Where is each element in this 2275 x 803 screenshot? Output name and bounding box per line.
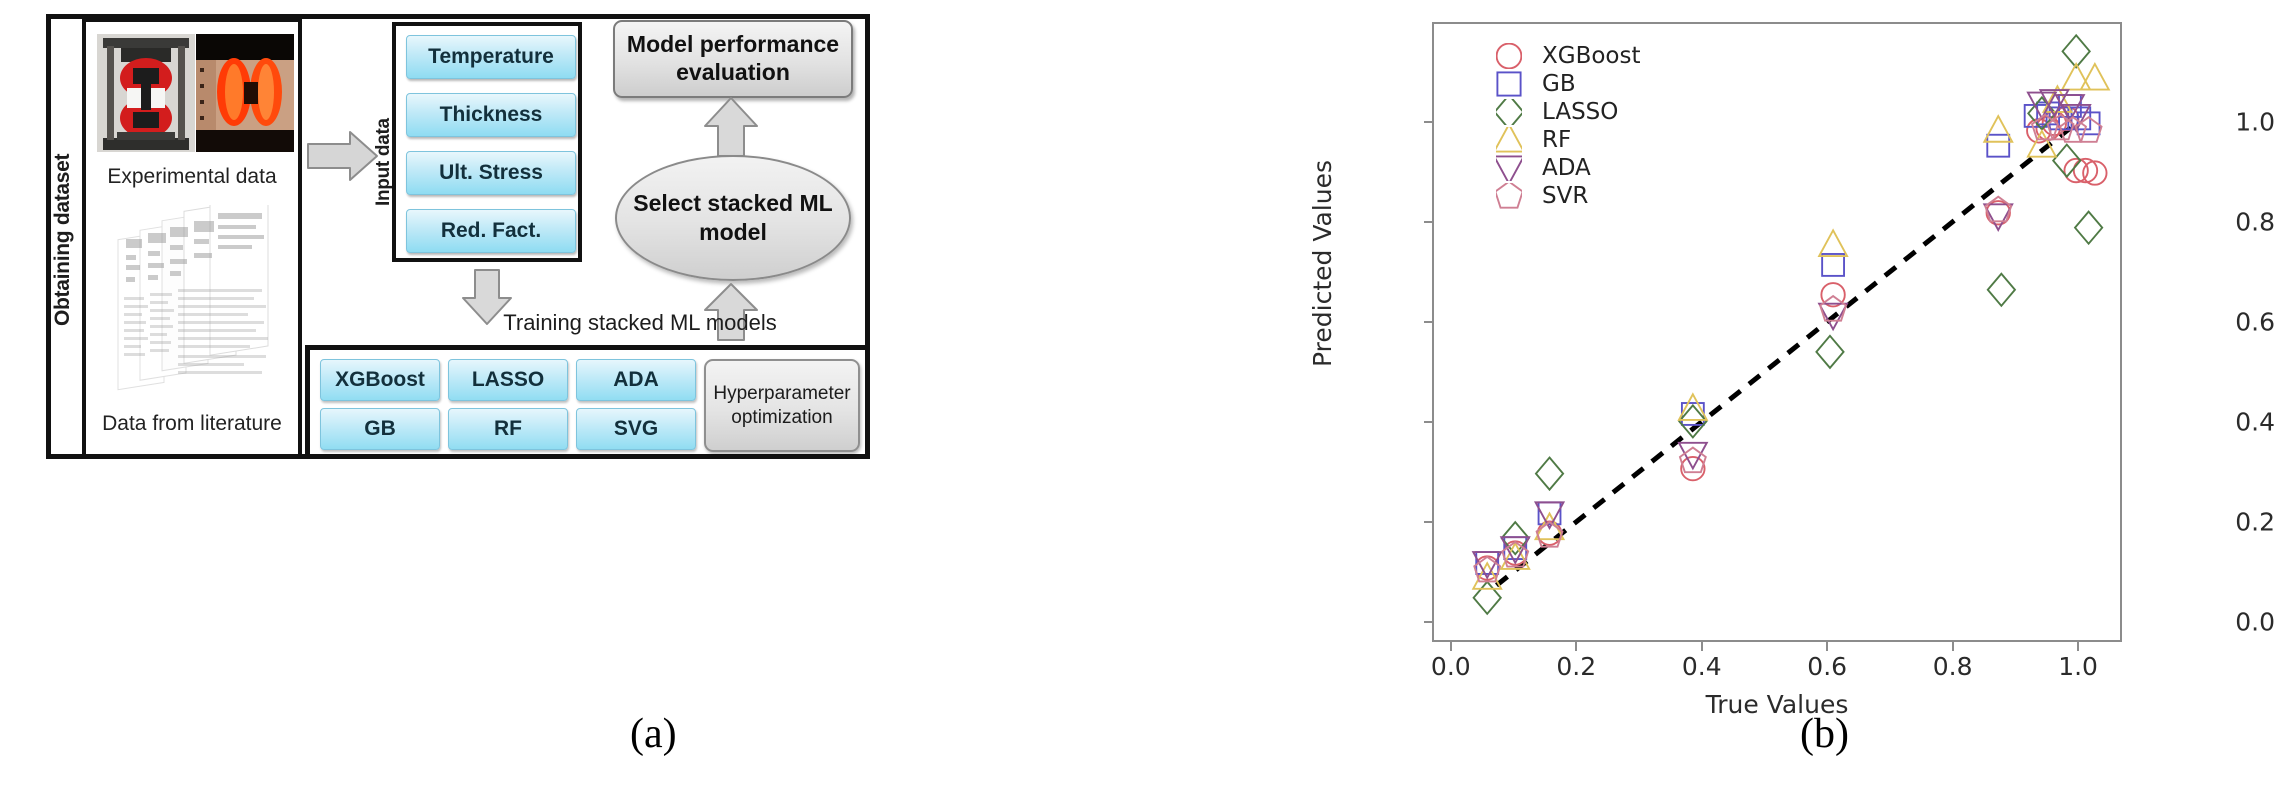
pentagon-marker-icon xyxy=(1492,183,1526,209)
ml-model-svg[interactable]: SVG xyxy=(576,408,696,450)
y-tick-mark xyxy=(1424,121,1433,123)
y-tick-label: 0.8 xyxy=(2157,208,2275,237)
x-tick-mark xyxy=(1952,642,1954,651)
x-tick-mark xyxy=(1826,642,1828,651)
square-marker-icon xyxy=(1492,71,1526,97)
legend-label: ADA xyxy=(1542,155,1591,181)
y-tick-label: 1.0 xyxy=(2157,108,2275,137)
chart-legend: XGBoostGBLASSORFADASVR xyxy=(1492,42,1641,210)
y-tick-label: 0.2 xyxy=(2157,508,2275,537)
legend-item-lasso: LASSO xyxy=(1492,98,1641,126)
legend-item-ada: ADA xyxy=(1492,154,1641,182)
diamond-marker-icon xyxy=(1492,99,1526,125)
legend-label: LASSO xyxy=(1542,99,1618,125)
x-tick-label: 1.0 xyxy=(2058,652,2098,681)
legend-label: SVR xyxy=(1542,183,1588,209)
legend-item-xgboost: XGBoost xyxy=(1492,42,1641,70)
x-tick-label: 0.4 xyxy=(1682,652,1722,681)
legend-item-rf: RF xyxy=(1492,126,1641,154)
training-stacked-ml-models-label: Training stacked ML models xyxy=(420,310,860,336)
feature-ult-stress[interactable]: Ult. Stress xyxy=(406,151,576,195)
arrow-select-to-evaluation-icon xyxy=(700,96,762,163)
triangle-up-marker-icon xyxy=(1492,127,1526,153)
y-tick-mark xyxy=(1424,421,1433,423)
subfigure-caption-a: (a) xyxy=(630,710,677,758)
y-tick-mark xyxy=(1424,221,1433,223)
y-tick-mark xyxy=(1424,321,1433,323)
obtaining-dataset-label: Obtaining dataset xyxy=(48,70,78,410)
x-tick-label: 0.6 xyxy=(1807,652,1847,681)
ml-model-lasso[interactable]: LASSO xyxy=(448,359,568,401)
flowchart-panel: Obtaining dataset xyxy=(0,0,1300,803)
feature-thickness[interactable]: Thickness xyxy=(406,93,576,137)
ml-model-rf[interactable]: RF xyxy=(448,408,568,450)
legend-label: XGBoost xyxy=(1542,43,1641,69)
feature-temperature[interactable]: Temperature xyxy=(406,35,576,79)
x-axis-label: True Values xyxy=(1432,690,2122,719)
experimental-data-caption: Experimental data xyxy=(87,165,297,189)
x-tick-label: 0.2 xyxy=(1556,652,1596,681)
x-tick-mark xyxy=(2077,642,2079,651)
model-performance-evaluation-box[interactable]: Model performance evaluation xyxy=(613,20,853,98)
legend-item-svr: SVR xyxy=(1492,182,1641,210)
input-features-box: Temperature Thickness Ult. Stress Red. F… xyxy=(392,22,582,262)
subfigure-caption-b: (b) xyxy=(1800,710,1849,758)
experimental-photo-tensile-rig xyxy=(97,34,195,152)
x-tick-mark xyxy=(1450,642,1452,651)
circle-marker-icon xyxy=(1492,43,1526,69)
literature-papers-illustration xyxy=(110,205,285,400)
y-tick-mark xyxy=(1424,521,1433,523)
y-axis-label: Predicted Values xyxy=(1308,160,1337,367)
legend-label: RF xyxy=(1542,127,1571,153)
y-tick-mark xyxy=(1424,621,1433,623)
legend-item-gb: GB xyxy=(1492,70,1641,98)
y-tick-label: 0.6 xyxy=(2157,308,2275,337)
ml-model-ada[interactable]: ADA xyxy=(576,359,696,401)
feature-red-fact[interactable]: Red. Fact. xyxy=(406,209,576,253)
scatter-plot-panel: Predicted Values True Values XGBoostGBLA… xyxy=(1300,0,2275,803)
select-stacked-ml-model-node[interactable]: Select stacked ML model xyxy=(615,155,851,281)
ml-model-gb[interactable]: GB xyxy=(320,408,440,450)
x-tick-mark xyxy=(1575,642,1577,651)
literature-data-caption: Data from literature xyxy=(87,412,297,436)
plot-frame: XGBoostGBLASSORFADASVR xyxy=(1432,22,2122,642)
x-tick-label: 0.0 xyxy=(1431,652,1471,681)
legend-label: GB xyxy=(1542,71,1576,97)
triangle-down-marker-icon xyxy=(1492,155,1526,181)
y-tick-label: 0.4 xyxy=(2157,408,2275,437)
hyperparameter-optimization-box[interactable]: Hyperparameter optimization xyxy=(704,359,860,452)
y-tick-label: 0.0 xyxy=(2157,608,2275,637)
x-tick-label: 0.8 xyxy=(1933,652,1973,681)
x-tick-mark xyxy=(1701,642,1703,651)
experimental-photo-furnace xyxy=(196,34,294,152)
arrow-dataset-to-input-icon xyxy=(306,126,380,191)
ml-model-xgboost[interactable]: XGBoost xyxy=(320,359,440,401)
ml-models-box: XGBoost LASSO ADA GB RF SVG Hyperparamet… xyxy=(305,345,870,459)
